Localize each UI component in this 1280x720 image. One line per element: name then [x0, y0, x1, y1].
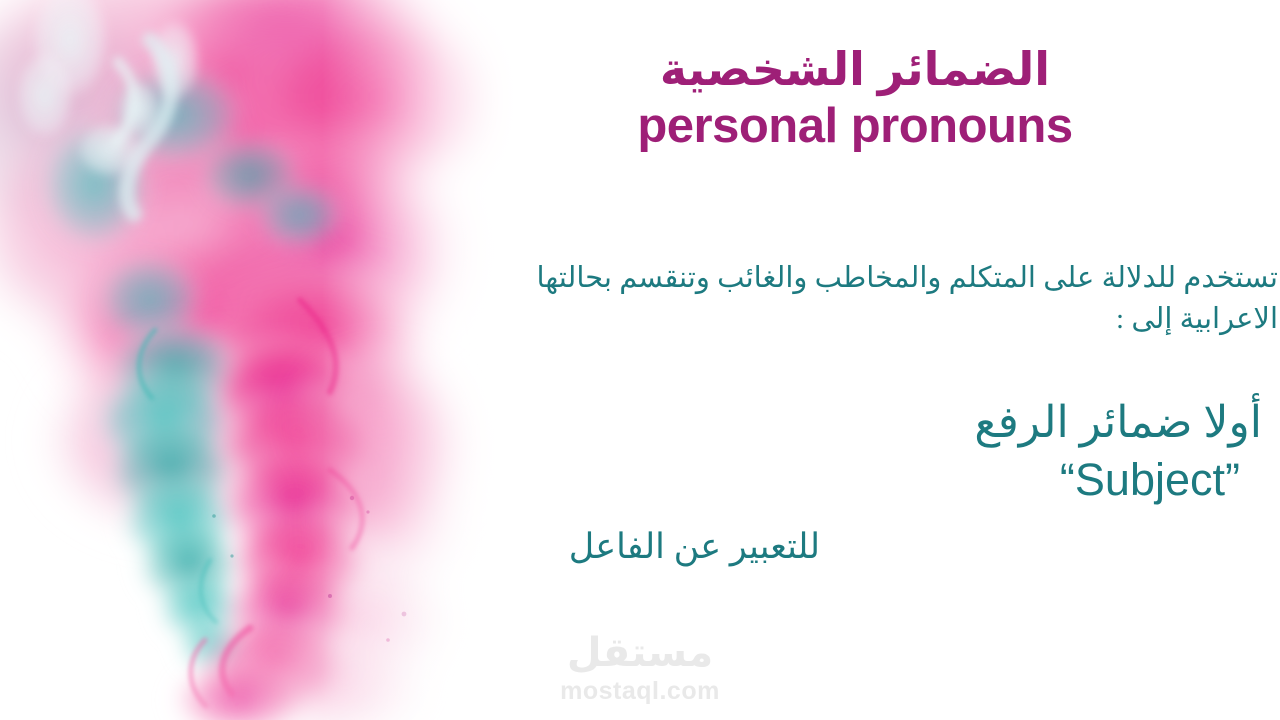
intro-paragraph: تستخدم للدلالة على المتكلم والمخاطب والغ…	[433, 258, 1280, 340]
title-english: personal pronouns	[430, 98, 1280, 156]
section-subnote: للتعبير عن الفاعل	[569, 524, 820, 570]
section-heading-english-term: “Subject”	[442, 451, 1262, 509]
section-heading: أولا ضمائر الرفع “Subject”	[442, 395, 1262, 509]
content-column: الضمائر الشخصية personal pronouns تستخدم…	[430, 0, 1280, 720]
section-heading-arabic: أولا ضمائر الرفع	[974, 398, 1262, 447]
title-arabic: الضمائر الشخصية	[430, 42, 1280, 96]
mostaql-watermark: مستقل mostaql.com	[0, 633, 1280, 706]
page-title: الضمائر الشخصية personal pronouns	[430, 42, 1280, 156]
watermark-domain: mostaql.com	[0, 677, 1280, 706]
watermark-arabic-logo: مستقل	[0, 633, 1280, 673]
slide-canvas: الضمائر الشخصية personal pronouns تستخدم…	[0, 0, 1280, 720]
